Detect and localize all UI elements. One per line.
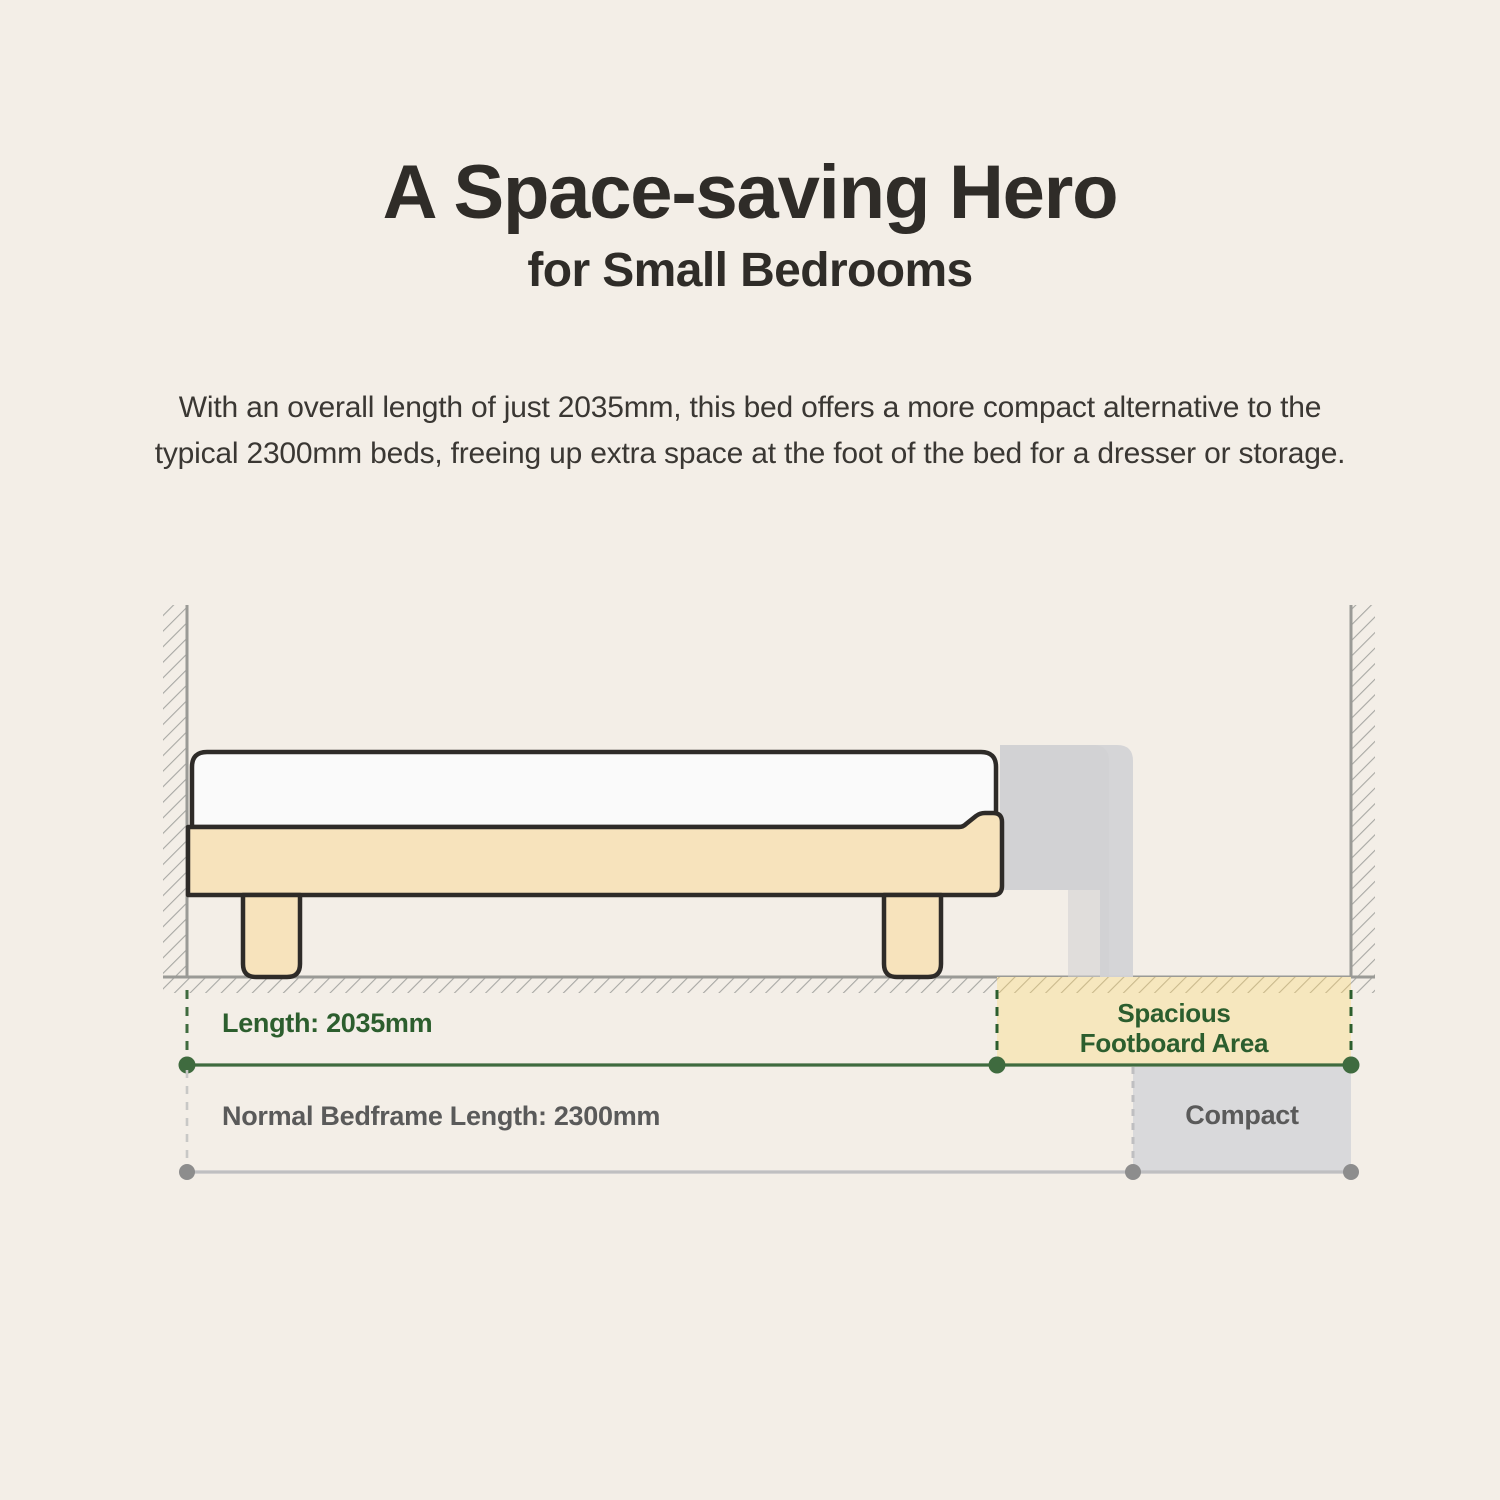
mattress <box>192 752 996 827</box>
left-wall-hatch <box>163 605 187 977</box>
right-wall-hatch <box>1351 605 1375 977</box>
bed-leg-left <box>243 895 300 977</box>
bed-leg-right <box>884 895 941 977</box>
bed-frame-rail <box>188 813 1002 895</box>
compact-length-label: Length: 2035mm <box>222 1008 432 1039</box>
footboard-area-label: Spacious Footboard Area <box>997 998 1351 1058</box>
typical-bed-ghost <box>1000 745 1133 977</box>
normal-length-label: Normal Bedframe Length: 2300mm <box>222 1101 660 1132</box>
dimension-dot-green-mid <box>989 1057 1006 1074</box>
dimension-dot-gray-end <box>1343 1164 1359 1180</box>
bed-legs <box>243 895 941 977</box>
bed-dimension-diagram <box>0 0 1500 1500</box>
dimension-dot-gray-start <box>179 1164 195 1180</box>
footboard-area-label-line1: Spacious <box>997 998 1351 1028</box>
dimension-dot-green-end <box>1343 1057 1360 1074</box>
compact-area-label: Compact <box>1133 1100 1351 1131</box>
infographic-root: A Space-saving Hero for Small Bedrooms W… <box>0 0 1500 1500</box>
dimension-dot-gray-mid <box>1125 1164 1141 1180</box>
footboard-area-label-line2: Footboard Area <box>997 1028 1351 1058</box>
